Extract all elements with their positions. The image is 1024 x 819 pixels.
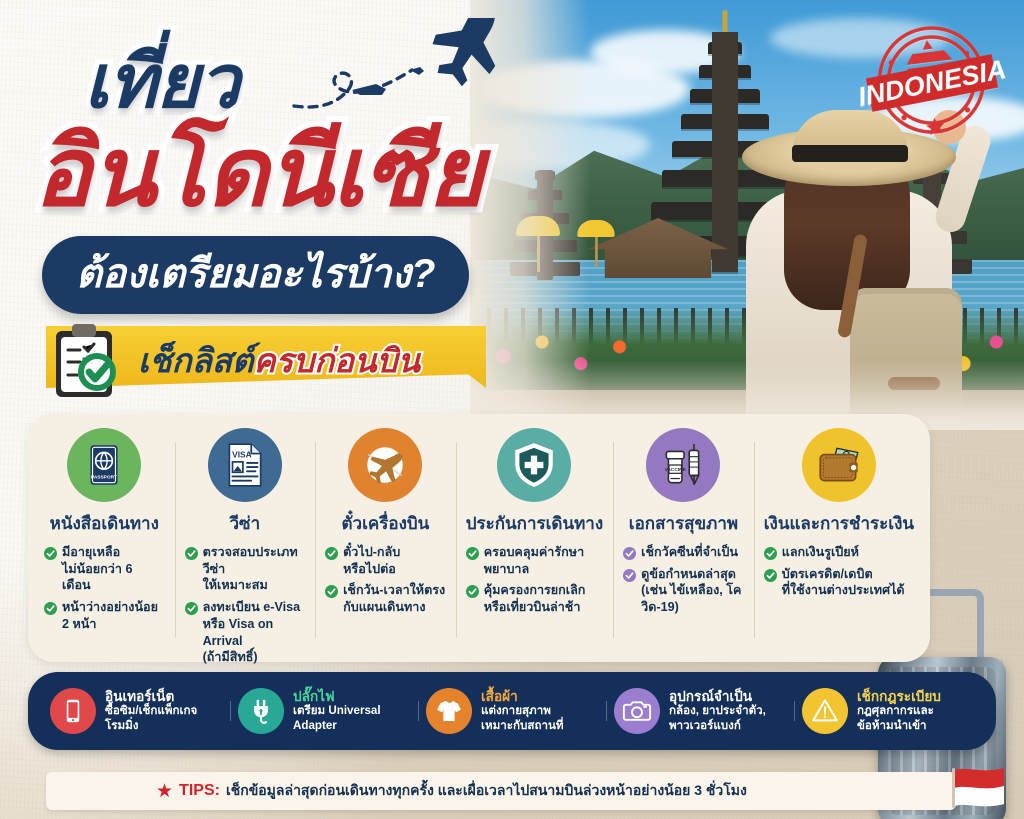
- check-circle-icon: [44, 602, 57, 615]
- checklist-bullet-text: บัตรเครดิต/เดบิตที่ใช้งานต่างประเทศได้: [782, 566, 905, 599]
- clipboard-check-icon: [50, 322, 124, 400]
- checklist-bullet: บัตรเครดิต/เดบิตที่ใช้งานต่างประเทศได้: [764, 566, 914, 599]
- checklist-bullet-text: คุ้มครองการยกเลิกหรือเที่ยวบินล่าช้า: [484, 582, 586, 615]
- checklist-bullet-text: ตั๋วไป-กลับหรือไปต่อ: [343, 544, 400, 577]
- visa-document-icon: VISA: [208, 428, 282, 502]
- checklist-card-title: ประกันการเดินทาง: [466, 510, 603, 537]
- tshirt-icon: [426, 688, 472, 734]
- tips-label: TIPS:: [179, 782, 220, 800]
- essentials-item-subtitle: แต่งกายสุภาพเหมาะกับสถานที่: [481, 704, 564, 733]
- stamp-label: INDONESIA: [856, 54, 1009, 112]
- checklist-bullet: ดูข้อกำหนดล่าสุด(เช่น ไข้เหลือง, โควิด-1…: [623, 566, 744, 616]
- indonesia-flag-icon: [952, 766, 1006, 810]
- checklist-bullet: เช็กวัคซีนที่จำเป็น: [623, 544, 744, 561]
- essentials-item-text: อินเทอร์เน็ตซื้อซิม/เช็กแพ็กเกจโรมมิ่ง: [105, 689, 197, 734]
- essentials-item-2: ปลั๊กไฟเตรียม UniversalAdapter: [230, 688, 418, 734]
- checklist-bullet-text: ดูข้อกำหนดล่าสุด(เช่น ไข้เหลือง, โควิด-1…: [641, 566, 744, 616]
- essentials-item-title: อินเทอร์เน็ต: [105, 689, 197, 705]
- essentials-item-title: อุปกรณ์จำเป็น: [669, 689, 766, 705]
- essentials-item-text: ปลั๊กไฟเตรียม UniversalAdapter: [293, 689, 381, 734]
- checklist-card-6: เงินและการชำระเงินแลกเงินรูเปียห์บัตรเคร…: [754, 428, 924, 652]
- essentials-item-4: อุปกรณ์จำเป็นกล้อง, ยาประจำตัว,พาวเวอร์แ…: [606, 688, 794, 734]
- check-circle-icon: [623, 569, 636, 582]
- checklist-bullet-text: ครอบคลุมค่ารักษาพยาบาล: [484, 544, 584, 577]
- checklist-bullet: ตั๋วไป-กลับหรือไปต่อ: [325, 544, 446, 577]
- check-circle-icon: [466, 547, 479, 560]
- headline-block: เที่ยว อินโดนีเซีย ต้องเตรียมอะไรบ้าง? เ…: [0, 0, 600, 400]
- checklist-card-title: หนังสือเดินทาง: [44, 510, 165, 537]
- ribbon-text-part1: เช็กลิสต์: [138, 342, 253, 379]
- essentials-item-5: เช็กกฎระเบียบกฎศุลกากรและข้อห้ามนำเข้า: [794, 688, 982, 734]
- essentials-item-title: เสื้อผ้า: [481, 689, 564, 705]
- essentials-item-text: อุปกรณ์จำเป็นกล้อง, ยาประจำตัว,พาวเวอร์แ…: [669, 689, 766, 734]
- infographic-root: INDONESIA เที่ยว อินโดนีเซีย ต้องเตรียมอ…: [0, 0, 1024, 819]
- star-icon: ★: [156, 780, 173, 803]
- check-circle-icon: [325, 585, 338, 598]
- check-circle-icon: [764, 547, 777, 560]
- essentials-item-subtitle: เตรียม UniversalAdapter: [293, 704, 381, 733]
- checklist-bullet: เช็กวัน-เวลาให้ตรงกับแผนเดินทาง: [325, 582, 446, 615]
- wallet-money-icon: [802, 428, 876, 502]
- checklist-card-title: ตั๋วเครื่องบิน: [325, 510, 446, 537]
- checklist-card-title: เงินและการชำระเงิน: [764, 510, 914, 537]
- essentials-item-title: เช็กกฎระเบียบ: [857, 689, 941, 705]
- tips-text: เช็กข้อมูลล่าสุดก่อนเดินทางทุกครั้ง และเ…: [226, 780, 747, 802]
- checklist-bullet-text: ตรวจสอบประเภทวีซ่าให้เหมาะสม: [203, 544, 306, 594]
- tips-footer: ★ TIPS: เช็กข้อมูลล่าสุดก่อนเดินทางทุกคร…: [46, 772, 956, 810]
- warning-triangle-icon: [802, 688, 848, 734]
- power-plug-icon: [238, 688, 284, 734]
- check-circle-icon: [764, 569, 777, 582]
- subheadline-pill: ต้องเตรียมอะไรบ้าง?: [42, 236, 469, 314]
- passport-stamp-icon: INDONESIA: [849, 13, 1015, 153]
- essentials-item-subtitle: กฎศุลกากรและข้อห้ามนำเข้า: [857, 704, 941, 733]
- checklist-bullet-text: เช็กวัคซีนที่จำเป็น: [641, 544, 738, 561]
- checklist-card-title: เอกสารสุขภาพ: [623, 510, 744, 537]
- airplane-icon: [422, 18, 514, 92]
- camera-icon: [614, 688, 660, 734]
- checklist-bullet-text: ลงทะเบียน e-Visaหรือ Visa on Arrival(ถ้า…: [203, 599, 306, 666]
- essentials-item-3: เสื้อผ้าแต่งกายสุภาพเหมาะกับสถานที่: [418, 688, 606, 734]
- checklist-card-3: ตั๋วเครื่องบินตั๋วไป-กลับหรือไปต่อเช็กวั…: [315, 428, 456, 652]
- essentials-item-1: อินเทอร์เน็ตซื้อซิม/เช็กแพ็กเกจโรมมิ่ง: [42, 688, 230, 734]
- checklist-bullet: หน้าว่างอย่างน้อย2 หน้า: [44, 599, 165, 632]
- svg-text:VACCINE: VACCINE: [665, 467, 686, 473]
- shield-medical-icon: [497, 428, 571, 502]
- vaccine-icon: VACCINE: [646, 428, 720, 502]
- check-circle-icon: [185, 602, 198, 615]
- checklist-card-title: วีซ่า: [185, 510, 306, 537]
- passport-icon: PASSPORT: [67, 428, 141, 502]
- smartphone-icon: [50, 688, 96, 734]
- check-circle-icon: [623, 547, 636, 560]
- ribbon-text: เช็กลิสต์ครบก่อนบิน: [138, 334, 420, 387]
- checklist-bullet: มีอายุเหลือไม่น้อยกว่า 6 เดือน: [44, 544, 165, 594]
- checklist-bullet: คุ้มครองการยกเลิกหรือเที่ยวบินล่าช้า: [466, 582, 603, 615]
- subheadline-text: ต้องเตรียมอะไรบ้าง?: [76, 241, 435, 305]
- ribbon-text-part2: ครบก่อนบิน: [253, 342, 420, 379]
- checklist-card-4: ประกันการเดินทางครอบคลุมค่ารักษาพยาบาลคุ…: [456, 428, 613, 652]
- essentials-item-text: เช็กกฎระเบียบกฎศุลกากรและข้อห้ามนำเข้า: [857, 689, 941, 734]
- check-circle-icon: [185, 547, 198, 560]
- checklist-bullet-text: แลกเงินรูเปียห์: [782, 544, 859, 561]
- airplane-ticket-icon: [348, 428, 422, 502]
- checklist-bullet: ครอบคลุมค่ารักษาพยาบาล: [466, 544, 603, 577]
- checklist-bullet: ตรวจสอบประเภทวีซ่าให้เหมาะสม: [185, 544, 306, 594]
- check-circle-icon: [466, 585, 479, 598]
- bottom-essentials-bar: อินเทอร์เน็ตซื้อซิม/เช็กแพ็กเกจโรมมิ่งปล…: [28, 672, 996, 750]
- checklist-card-2: VISAวีซ่าตรวจสอบประเภทวีซ่าให้เหมาะสมลงท…: [175, 428, 316, 652]
- checklist-bullet-text: หน้าว่างอย่างน้อย2 หน้า: [62, 599, 158, 632]
- check-circle-icon: [44, 547, 57, 560]
- checklist-bullet-text: มีอายุเหลือไม่น้อยกว่า 6 เดือน: [62, 544, 165, 594]
- svg-text:VISA: VISA: [232, 450, 251, 460]
- checklist-columns: PASSPORTหนังสือเดินทางมีอายุเหลือไม่น้อย…: [28, 414, 930, 662]
- checklist-bullet-text: เช็กวัน-เวลาให้ตรงกับแผนเดินทาง: [343, 582, 445, 615]
- check-circle-icon: [325, 547, 338, 560]
- checklist-card-1: PASSPORTหนังสือเดินทางมีอายุเหลือไม่น้อย…: [34, 428, 175, 652]
- headline-line-2: อินโดนีเซีย: [34, 96, 483, 248]
- essentials-item-subtitle: กล้อง, ยาประจำตัว,พาวเวอร์แบงก์: [669, 704, 766, 733]
- essentials-item-subtitle: ซื้อซิม/เช็กแพ็กเกจโรมมิ่ง: [105, 704, 197, 733]
- essentials-item-title: ปลั๊กไฟ: [293, 689, 381, 705]
- checklist-panel: PASSPORTหนังสือเดินทางมีอายุเหลือไม่น้อย…: [28, 414, 930, 662]
- checklist-card-5: VACCINEเอกสารสุขภาพเช็กวัคซีนที่จำเป็นดู…: [613, 428, 754, 652]
- checklist-bullet: แลกเงินรูเปียห์: [764, 544, 914, 561]
- essentials-item-text: เสื้อผ้าแต่งกายสุภาพเหมาะกับสถานที่: [481, 689, 564, 734]
- checklist-bullet: ลงทะเบียน e-Visaหรือ Visa on Arrival(ถ้า…: [185, 599, 306, 666]
- svg-text:PASSPORT: PASSPORT: [91, 475, 117, 481]
